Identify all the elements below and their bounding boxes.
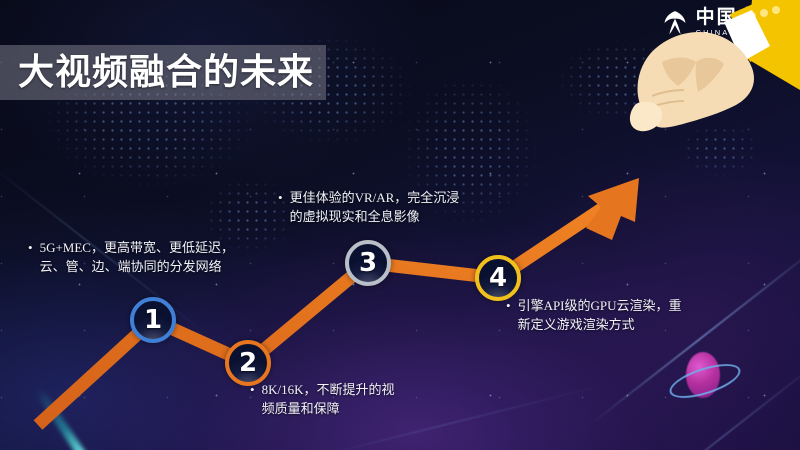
bullet-marker-icon: • — [278, 188, 283, 226]
caption-line: 新定义游戏渲染方式 — [518, 315, 682, 334]
caption-text-4: 引擎API级的GPU云渲染，重 新定义游戏渲染方式 — [518, 296, 682, 334]
bullet-marker-icon: • — [250, 380, 255, 418]
caption-line: 的虚拟现实和全息影像 — [290, 207, 460, 226]
milestone-node-1[interactable]: 1 — [130, 297, 176, 343]
hand-holding-arrow-icon — [600, 0, 800, 220]
node-number: 2 — [239, 348, 257, 378]
caption-line: 云、管、边、端协同的分发网络 — [40, 257, 234, 276]
milestone-node-4[interactable]: 4 — [475, 255, 521, 301]
caption-item-3: • 更佳体验的VR/AR，完全沉浸 的虚拟现实和全息影像 — [278, 188, 508, 226]
node-number: 3 — [359, 248, 377, 278]
milestone-node-3[interactable]: 3 — [345, 240, 391, 286]
bullet-marker-icon: • — [506, 296, 511, 334]
caption-line: 引擎API级的GPU云渲染，重 — [518, 296, 682, 315]
caption-line: 8K/16K，不断提升的视 — [262, 380, 395, 399]
caption-text-3: 更佳体验的VR/AR，完全沉浸 的虚拟现实和全息影像 — [290, 188, 460, 226]
caption-item-1: • 5G+MEC，更高带宽、更低延迟， 云、管、边、端协同的分发网络 — [28, 238, 258, 276]
node-number: 4 — [489, 263, 507, 293]
bullet-marker-icon: • — [28, 238, 33, 276]
caption-text-2: 8K/16K，不断提升的视 频质量和保障 — [262, 380, 395, 418]
caption-item-4: • 引擎API级的GPU云渲染，重 新定义游戏渲染方式 — [506, 296, 696, 334]
caption-item-2: • 8K/16K，不断提升的视 频质量和保障 — [250, 380, 440, 418]
caption-line: 更佳体验的VR/AR，完全沉浸 — [290, 188, 460, 207]
slide-canvas: 大视频融合的未来 中国电信 CHINA TELECOM — [0, 0, 800, 450]
caption-text-1: 5G+MEC，更高带宽、更低延迟， 云、管、边、端协同的分发网络 — [40, 238, 234, 276]
caption-line: 频质量和保障 — [262, 399, 395, 418]
node-number: 1 — [144, 305, 162, 335]
caption-line: 5G+MEC，更高带宽、更低延迟， — [40, 238, 234, 257]
